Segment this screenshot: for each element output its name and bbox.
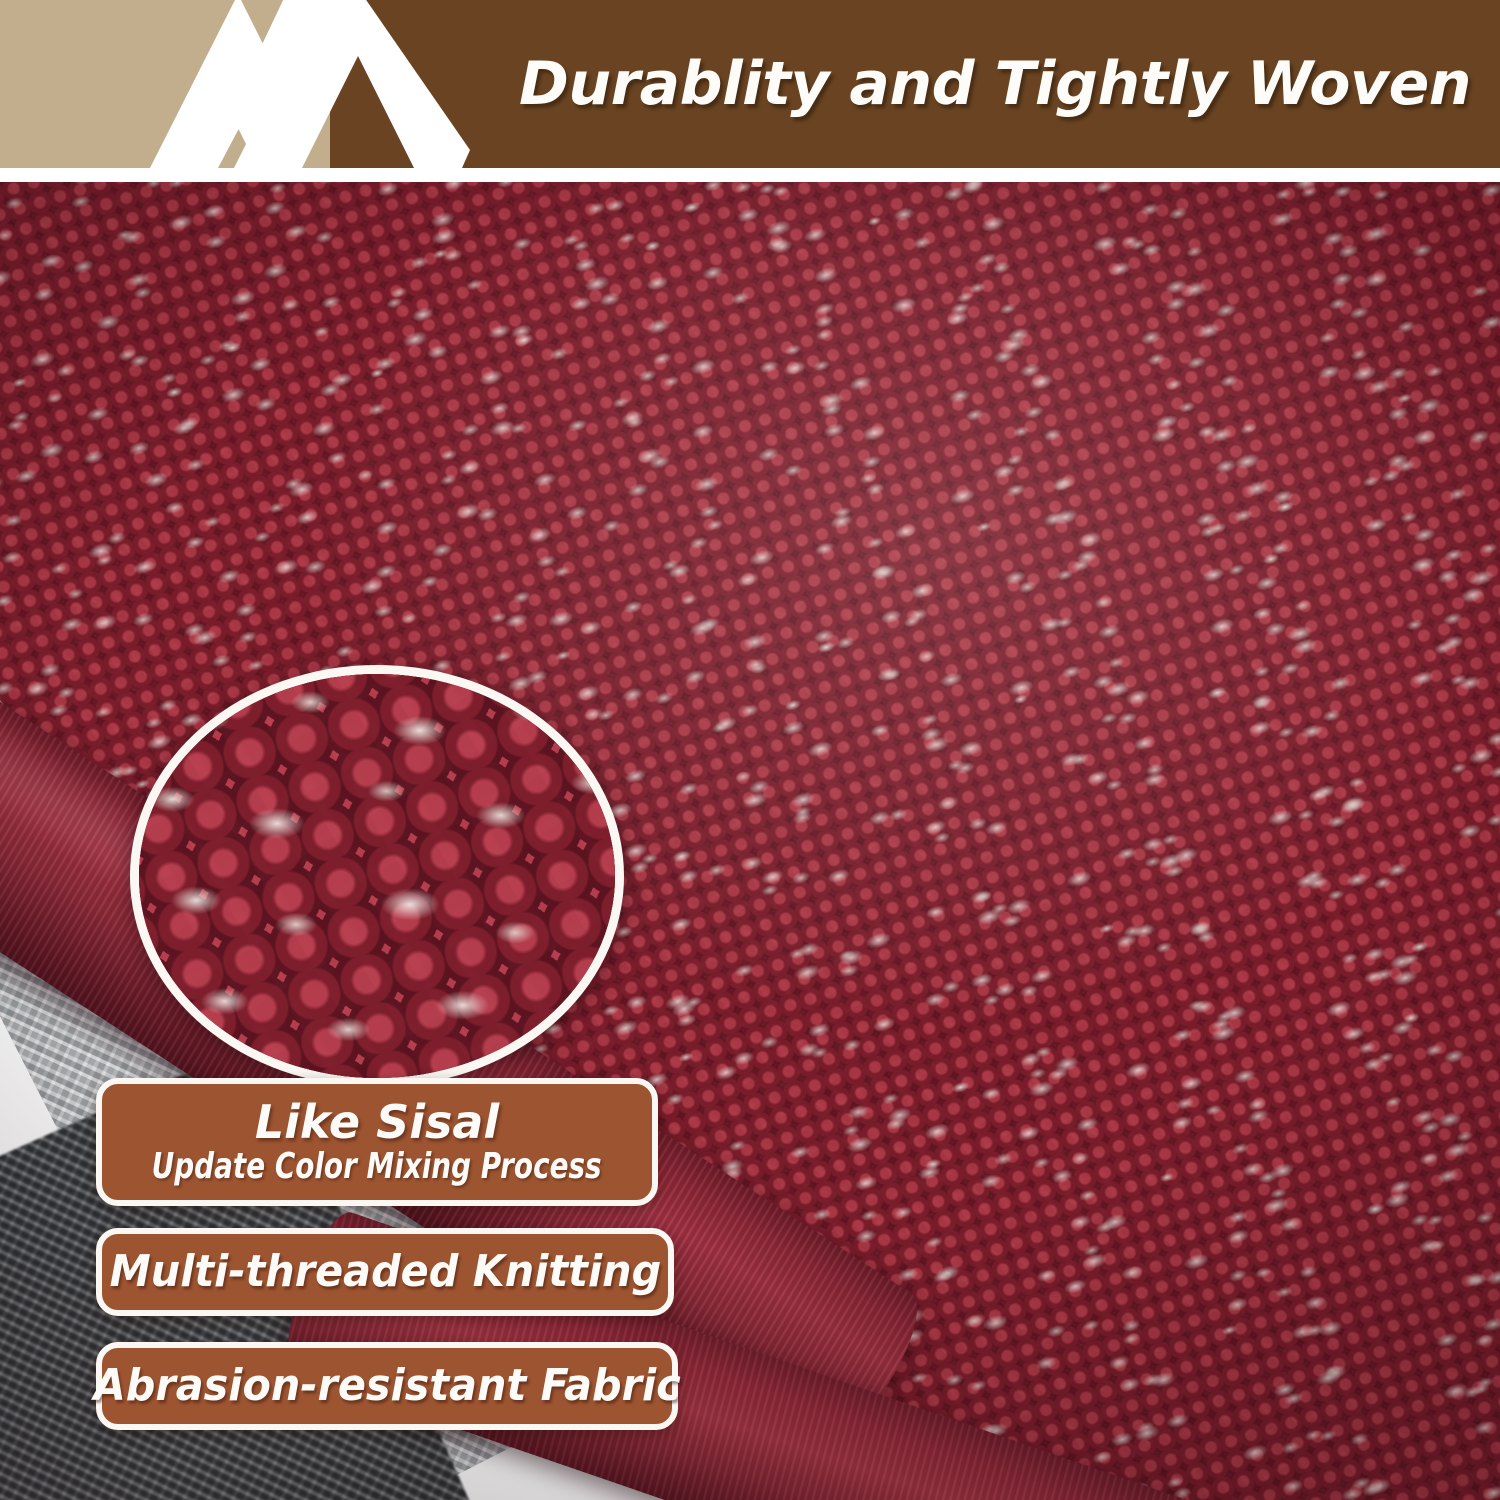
banner-title-text: Durablity and Tightly Woven [519,54,1471,114]
header-banner: Durablity and Tightly Woven [0,0,1500,168]
banner-bottom-rule [0,168,1500,182]
feature-label-abrasion-resistant-fabric[interactable]: Abrasion-resistant Fabric [96,1342,678,1430]
mountain-m-logo-icon [90,0,470,168]
feature-label-like-sisal[interactable]: Like Sisal Update Color Mixing Process [96,1078,658,1206]
feature-label-title: Abrasion-resistant Fabric [93,1363,680,1409]
product-feature-infographic: Like Sisal Update Color Mixing Process M… [0,0,1500,1500]
closeup-fleck-overlay [139,674,615,1078]
feature-label-title: Like Sisal [255,1099,499,1146]
feature-label-title: Multi-threaded Knitting [109,1249,661,1295]
texture-closeup-magnifier [130,665,624,1087]
feature-label-multi-threaded-knitting[interactable]: Multi-threaded Knitting [96,1228,674,1316]
feature-label-subtitle: Update Color Mixing Process [152,1148,602,1186]
mountain-m-logo-svg [90,0,470,168]
banner-title: Durablity and Tightly Woven [440,0,1485,168]
